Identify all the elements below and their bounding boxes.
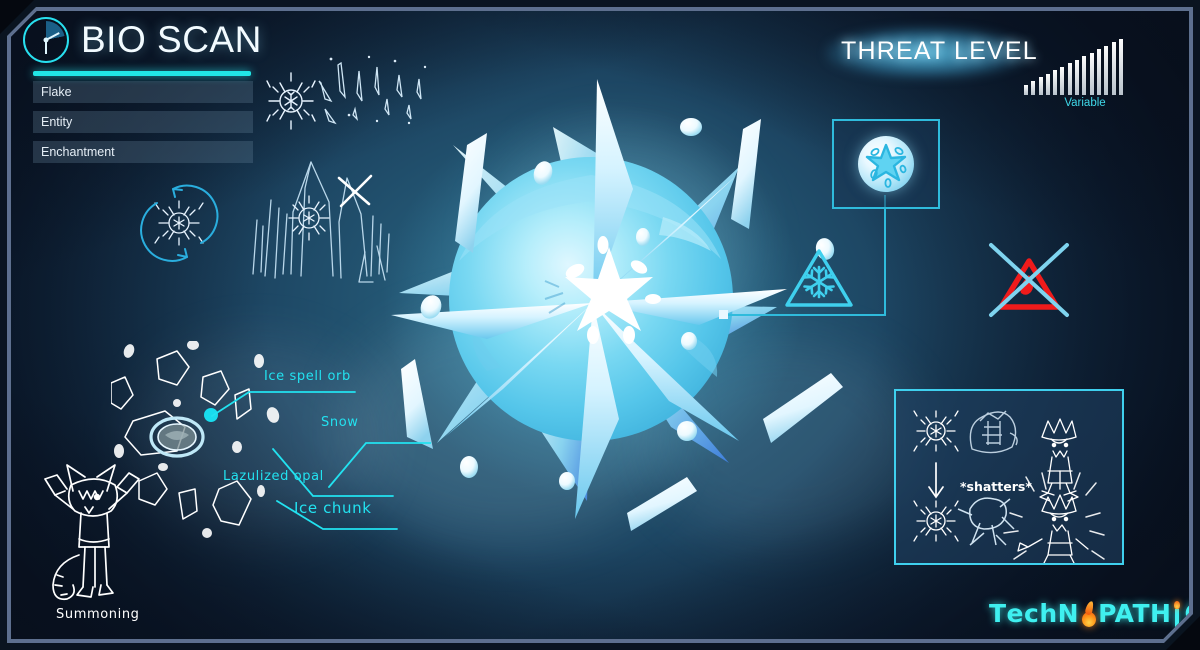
threat-meter-bar (1039, 77, 1043, 95)
threat-meter-bar (1060, 67, 1064, 95)
brand-logo: TеchN PATH C 759 (989, 599, 1189, 628)
threat-meter-bar (1068, 63, 1072, 95)
threat-level-header: THREAT LEVEL (841, 37, 1038, 66)
orb-anchor-marker (719, 310, 728, 319)
threat-meter-bar (1119, 39, 1123, 95)
list-item[interactable]: Enchantment (33, 141, 253, 163)
scan-dial-icon (23, 17, 69, 63)
snowflake-orb-icon (858, 136, 914, 192)
threat-meter-bar (1046, 74, 1050, 95)
threat-meter-bar (1075, 60, 1079, 95)
annotation-label-lazulized-opal: Lazulized opal (223, 469, 324, 484)
annotation-label-snow: Snow (321, 415, 358, 430)
fire-hazard-icon-crossed[interactable] (983, 239, 1075, 321)
list-item-label: Entity (41, 115, 72, 129)
logo-text-primary: TеchN (989, 599, 1079, 628)
flame-icon (1080, 601, 1097, 627)
scene-viewport: BIO SCAN Flake Entity Enchantment THREAT… (11, 11, 1189, 639)
specimen-inset-panel[interactable] (832, 119, 940, 209)
annotation-label-summoning: Summoning (56, 607, 140, 622)
list-item-label: Enchantment (41, 145, 115, 159)
shatter-sequence-panel[interactable]: *shatters* (894, 389, 1124, 565)
threat-level-value: Variable (1024, 97, 1146, 109)
logo-text-secondary: PATH (1098, 599, 1171, 628)
threat-meter-bar (1112, 42, 1116, 95)
comic-caption: *shatters* (960, 479, 1032, 494)
threat-meter-bar (1024, 85, 1028, 95)
threat-level-title: THREAT LEVEL (841, 37, 1038, 66)
threat-meter-bar (1097, 49, 1101, 95)
threat-level-meter (1024, 39, 1146, 95)
bio-scan-screen: BIO SCAN Flake Entity Enchantment THREAT… (0, 0, 1200, 650)
title-underline (33, 71, 251, 76)
annotation-label-ice-spell-orb: Ice spell orb (264, 369, 351, 384)
threat-meter-bar (1031, 81, 1035, 95)
threat-meter-bar (1090, 53, 1094, 95)
list-item-label: Flake (41, 85, 72, 99)
threat-meter-bar (1082, 56, 1086, 95)
header: BIO SCAN (23, 17, 262, 63)
threat-meter-bar (1104, 46, 1108, 95)
threat-meter-bar (1053, 70, 1057, 95)
list-item[interactable]: Entity (33, 111, 253, 133)
scan-category-list: Flake Entity Enchantment (33, 81, 253, 171)
annotation-label-ice-chunk: Ice chunk (294, 499, 372, 517)
cold-hazard-icon[interactable] (783, 245, 855, 311)
page-title: BIO SCAN (81, 19, 262, 61)
list-item[interactable]: Flake (33, 81, 253, 103)
